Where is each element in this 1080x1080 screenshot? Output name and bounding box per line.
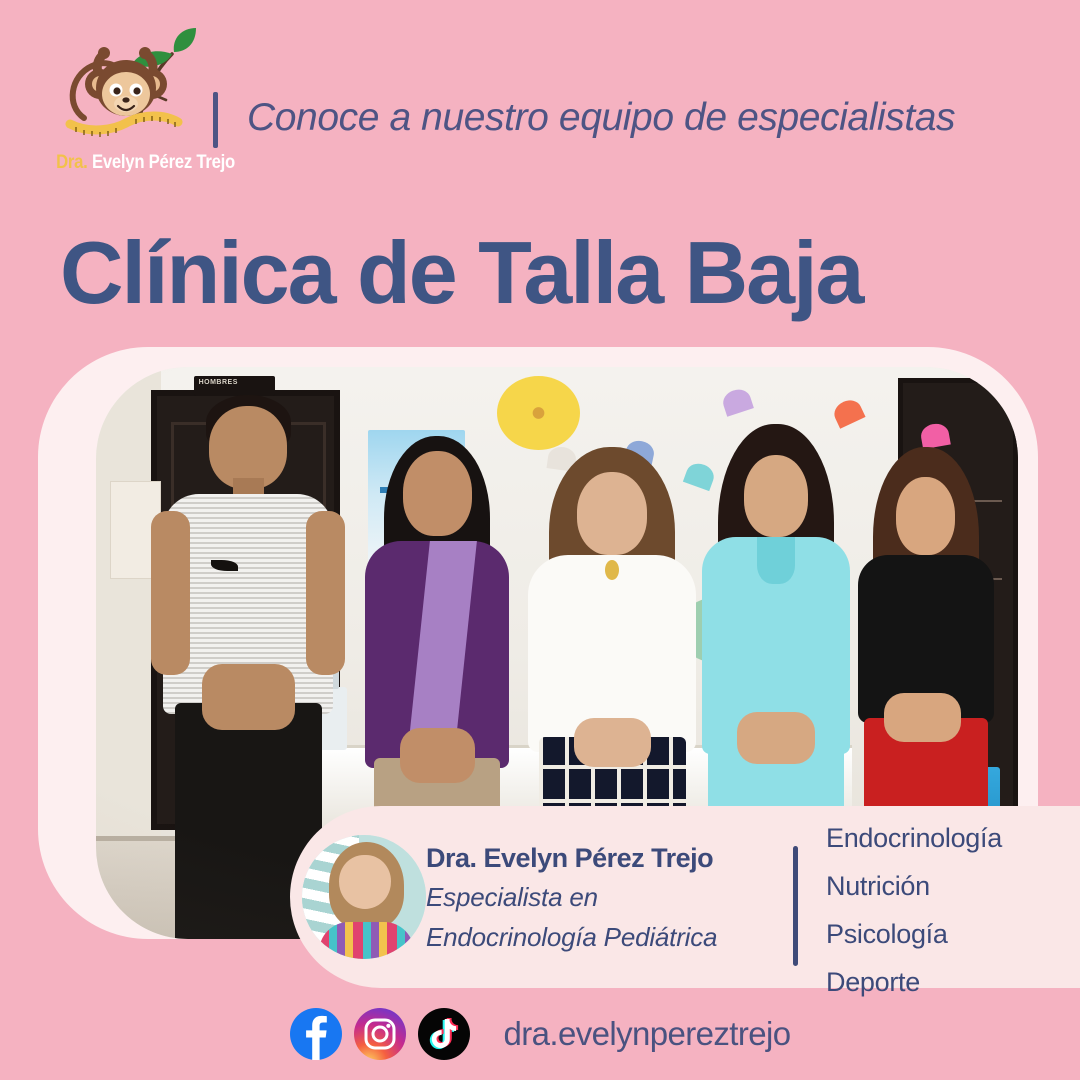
avatar — [302, 835, 426, 959]
brand-wordmark-name: Evelyn Pérez Trejo — [92, 152, 235, 173]
service-item-psicologia: Psicología — [826, 914, 1002, 954]
header-tagline: Conoce a nuestro equipo de especialistas — [247, 96, 955, 140]
footer: dra.evelynpereztrejo — [0, 988, 1080, 1080]
poster-canvas: Dra. Evelyn Pérez Trejo Conoce a nuestro… — [0, 0, 1080, 1080]
instagram-icon[interactable] — [354, 1008, 406, 1060]
monkey-measuring-tape-icon — [44, 22, 214, 162]
services-list: Endocrinología Nutrición Psicología Depo… — [826, 818, 1002, 1002]
doctor-role-line-1: Especialista en — [426, 882, 598, 913]
doctor-info-card: Dra. Evelyn Pérez Trejo Especialista en … — [290, 806, 1080, 988]
doctor-role-line-2: Endocrinología Pediátrica — [426, 922, 717, 953]
brand-wordmark: Dra. Evelyn Pérez Trejo — [56, 152, 204, 174]
avatar-clothing — [319, 922, 413, 959]
social-handle[interactable]: dra.evelynpereztrejo — [504, 1015, 791, 1053]
services-divider — [793, 846, 798, 966]
doctor-name: Dra. Evelyn Pérez Trejo — [426, 843, 713, 874]
service-item-endocrinologia: Endocrinología — [826, 818, 1002, 858]
header-divider — [213, 92, 218, 148]
tiktok-icon[interactable] — [418, 1008, 470, 1060]
facebook-icon[interactable] — [290, 1008, 342, 1060]
brand-logo: Dra. Evelyn Pérez Trejo — [44, 22, 214, 187]
page-title: Clínica de Talla Baja — [60, 222, 862, 324]
brand-wordmark-prefix: Dra. — [56, 152, 87, 173]
service-item-nutricion: Nutrición — [826, 866, 1002, 906]
header: Dra. Evelyn Pérez Trejo Conoce a nuestro… — [0, 0, 1080, 205]
